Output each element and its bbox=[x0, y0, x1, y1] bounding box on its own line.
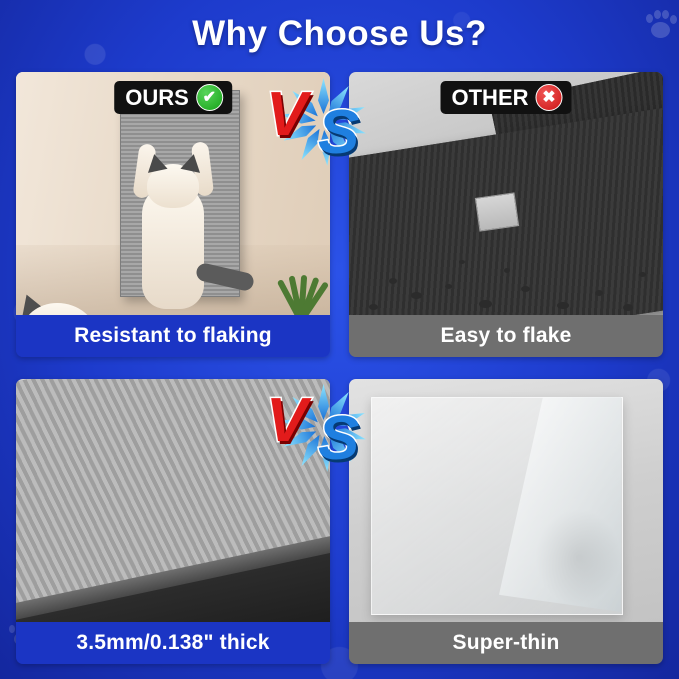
badge-other: OTHER ✖ bbox=[441, 81, 572, 114]
caption-thickness: 3.5mm/0.138" thick bbox=[16, 622, 330, 664]
photo-thick-carpet-edge bbox=[16, 379, 330, 622]
caption-super-thin: Super-thin bbox=[349, 622, 663, 664]
panel-bottom-right: Super-thin bbox=[349, 379, 663, 664]
cross-icon: ✖ bbox=[536, 84, 563, 111]
photo-thin-film bbox=[349, 379, 663, 622]
caption-easy-to-flake: Easy to flake bbox=[349, 315, 663, 357]
panel-bottom-left: 3.5mm/0.138" thick bbox=[16, 379, 330, 664]
caption-resistant-to-flaking: Resistant to flaking bbox=[16, 315, 330, 357]
badge-ours: OURS ✔ bbox=[114, 81, 232, 114]
page-title: Why Choose Us? bbox=[0, 14, 679, 54]
photo-cat-scratching-mat: OURS ✔ bbox=[16, 72, 330, 315]
comparison-grid: OURS ✔ Resistant to flaking bbox=[16, 72, 663, 664]
panel-top-left: OURS ✔ Resistant to flaking bbox=[16, 72, 330, 357]
badge-other-label: OTHER bbox=[452, 85, 529, 111]
panel-top-right: OTHER ✖ Easy to flake bbox=[349, 72, 663, 357]
check-icon: ✔ bbox=[196, 84, 223, 111]
comparison-poster: Why Choose Us? bbox=[0, 0, 679, 679]
photo-flaking-mat: OTHER ✖ bbox=[349, 72, 663, 315]
badge-ours-label: OURS bbox=[125, 85, 189, 111]
